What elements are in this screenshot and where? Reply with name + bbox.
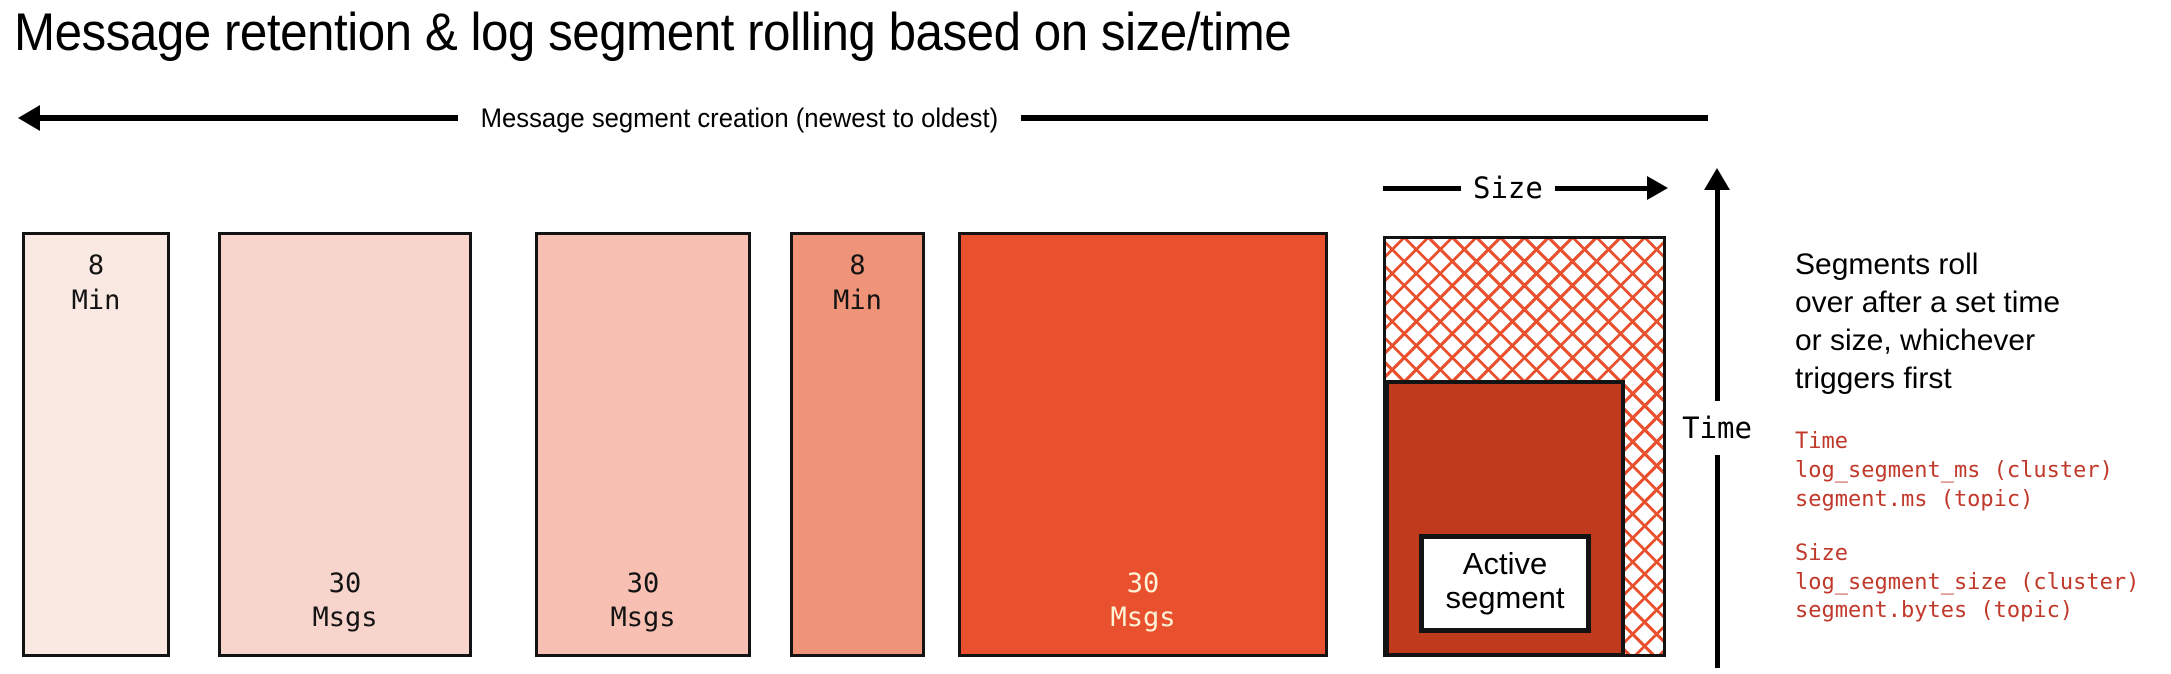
- time-axis: Time: [1694, 168, 1740, 668]
- arrow-right-icon: [1647, 176, 1668, 200]
- page-title: Message retention & log segment rolling …: [14, 2, 1291, 63]
- size-axis-line-right: [1555, 186, 1649, 191]
- segment-top-label: 8 Min: [72, 249, 121, 318]
- arrow-left-icon: [18, 105, 40, 131]
- segment-top-label: 8 Min: [833, 249, 882, 318]
- axis-line-right: [1021, 115, 1708, 121]
- segment-bar: 8 Min: [790, 232, 925, 657]
- segment-bar: 30 Msgs: [958, 232, 1328, 657]
- segment-bar: 8 Min: [22, 232, 170, 657]
- segment-bottom-label: 30 Msgs: [312, 567, 377, 636]
- segment-bottom-label: 30 Msgs: [1110, 567, 1175, 636]
- arrow-up-icon: [1704, 168, 1730, 190]
- segment-bar: 30 Msgs: [535, 232, 751, 657]
- creation-axis-label: Message segment creation (newest to olde…: [472, 103, 1007, 134]
- time-axis-label: Time: [1682, 401, 1752, 455]
- time-axis-line-top: [1715, 188, 1720, 401]
- size-axis-line-left: [1383, 186, 1461, 191]
- notes-description: Segments roll over after a set time or s…: [1795, 246, 2165, 398]
- creation-axis: Message segment creation (newest to olde…: [18, 98, 1708, 138]
- notes-panel: Segments roll over after a set time or s…: [1795, 246, 2165, 626]
- size-axis: Size: [1383, 168, 1668, 208]
- time-axis-line-bottom: [1715, 455, 1720, 668]
- axis-line-left: [38, 115, 458, 121]
- active-segment-label: Active segment: [1419, 534, 1591, 633]
- config-size-settings: Size log_segment_size (cluster) segment.…: [1795, 540, 2165, 626]
- segment-bar: 30 Msgs: [218, 232, 472, 657]
- segment-bottom-label: 30 Msgs: [610, 567, 675, 636]
- config-time-settings: Time log_segment_ms (cluster) segment.ms…: [1795, 428, 2165, 514]
- size-axis-label: Size: [1461, 171, 1555, 205]
- active-segment-fill: Active segment: [1385, 380, 1625, 657]
